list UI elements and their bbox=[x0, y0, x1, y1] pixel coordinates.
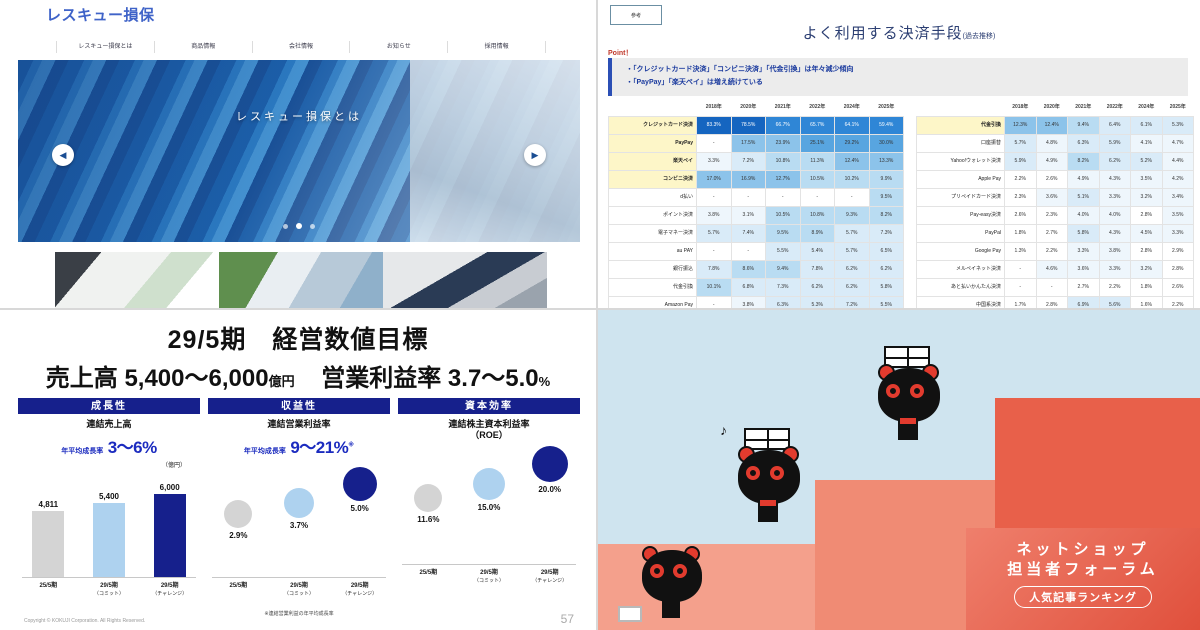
table-cell: 5.8% bbox=[1068, 225, 1100, 243]
chevron-right-icon[interactable]: ▶ bbox=[524, 144, 546, 166]
table-row: 中国系決済1.7%2.8%6.9%5.6%1.6%2.2% bbox=[917, 297, 1194, 311]
table-cell: 2.2% bbox=[1005, 171, 1037, 189]
table-cell: 6.2% bbox=[800, 279, 835, 297]
table-cell: 3.8% bbox=[731, 297, 766, 311]
cagr-value: 3〜6% bbox=[108, 438, 157, 457]
page-number: 57 bbox=[561, 612, 574, 626]
table-cell: 6.9% bbox=[1068, 297, 1100, 311]
bubble bbox=[473, 468, 505, 500]
payment-table-left: 2018年2020年2021年2022年2024年2025年 クレジットカード決… bbox=[608, 99, 904, 310]
hero-caption: レスキュー損保とは bbox=[18, 108, 580, 124]
nav-item-about[interactable]: レスキュー損保とは bbox=[56, 41, 154, 53]
table-cell: 29.2% bbox=[835, 135, 870, 153]
page-subtitle: 売上高 5,400〜6,000億円 営業利益率 3.7〜5.0% bbox=[0, 358, 596, 393]
table-cell: 1.8% bbox=[1005, 225, 1037, 243]
table-cell: 17.0% bbox=[697, 171, 732, 189]
table-cell: 6.5% bbox=[869, 243, 904, 261]
copyright-text: Copyright © KOKUJI Corporation. All Righ… bbox=[24, 618, 145, 624]
hero-carousel: レスキュー損保とは ◀ ▶ bbox=[18, 60, 580, 242]
table-cell: 2.8% bbox=[1131, 243, 1163, 261]
bubble-value-label: 5.0% bbox=[351, 504, 369, 513]
table-cell: 4.6% bbox=[1036, 261, 1068, 279]
year-header: 2025年 bbox=[1162, 99, 1194, 117]
table-cell: 10.2% bbox=[835, 171, 870, 189]
bar-column: 6,000 bbox=[139, 483, 200, 578]
table-cell: 4.3% bbox=[1099, 225, 1131, 243]
table-cell: - bbox=[731, 189, 766, 207]
table-row: Apple Pay2.2%2.6%4.9%4.3%3.5%4.2% bbox=[917, 171, 1194, 189]
table-cell: 3.8% bbox=[1099, 243, 1131, 261]
profitability-x-labels: 25/5期29/5期（コミット）29/5期（チャレンジ） bbox=[208, 582, 390, 598]
row-label: ポイント決済 bbox=[609, 207, 697, 225]
forum-banner[interactable]: ネットショップ 担当者フォーラム 人気記事ランキング bbox=[966, 528, 1200, 630]
table-cell: 10.8% bbox=[800, 207, 835, 225]
bar bbox=[32, 511, 64, 578]
table-cell: 9.9% bbox=[869, 171, 904, 189]
row-label: 代金引換 bbox=[609, 279, 697, 297]
table-row: PayPay-17.5%23.9%25.1%29.2%30.0% bbox=[609, 135, 904, 153]
cagr-label: 年平均成長率 bbox=[61, 448, 103, 455]
panel-capital-metric: 連結株主資本利益率 （ROE） bbox=[398, 419, 580, 441]
table-cell: 6.3% bbox=[1068, 135, 1100, 153]
table-cell: 7.2% bbox=[731, 153, 766, 171]
bubble-value-label: 15.0% bbox=[478, 503, 501, 512]
table-cell: - bbox=[697, 135, 732, 153]
payment-table-left-wrap: 2018年2020年2021年2022年2024年2025年 クレジットカード決… bbox=[608, 99, 904, 310]
bubble-column: 11.6% bbox=[398, 447, 459, 565]
table-cell: 59.4% bbox=[869, 117, 904, 135]
table-row: PayPal1.8%2.7%5.8%4.3%4.5%3.3% bbox=[917, 225, 1194, 243]
table-row: d払い-----9.5% bbox=[609, 189, 904, 207]
bubble-column: 15.0% bbox=[459, 447, 520, 565]
bar bbox=[93, 503, 125, 578]
table-cell: 3.5% bbox=[1131, 171, 1163, 189]
table-row: 口座振替5.7%4.8%6.3%5.9%4.1%4.7% bbox=[917, 135, 1194, 153]
row-label: クレジットカード決済 bbox=[609, 117, 697, 135]
year-header: 2022年 bbox=[800, 99, 835, 117]
cagr-asterisk: ※ bbox=[348, 443, 354, 449]
slide-title-sub: (過去推移) bbox=[963, 33, 996, 40]
table-cell: 83.3% bbox=[697, 117, 732, 135]
table-cell: 4.9% bbox=[1036, 153, 1068, 171]
table-row: 銀行振込7.8%8.6%9.4%7.8%6.2%6.2% bbox=[609, 261, 904, 279]
table-cell: 6.4% bbox=[1099, 117, 1131, 135]
table-cell: 5.7% bbox=[835, 225, 870, 243]
table-row: 楽天ペイ3.3%7.2%10.8%11.3%12.4%13.3% bbox=[609, 153, 904, 171]
table-cell: - bbox=[1036, 279, 1068, 297]
table-cell: - bbox=[766, 189, 801, 207]
table-cell: 4.3% bbox=[1099, 171, 1131, 189]
year-header: 2020年 bbox=[731, 99, 766, 117]
point-label: Point！ bbox=[608, 48, 633, 58]
table-cell: 10.5% bbox=[800, 171, 835, 189]
table-cell: 10.8% bbox=[766, 153, 801, 171]
table-cell: 2.6% bbox=[1162, 279, 1194, 297]
row-label: PayPal bbox=[917, 225, 1005, 243]
nav-item-company[interactable]: 会社情報 bbox=[252, 41, 350, 53]
table-cell: 10.1% bbox=[697, 279, 732, 297]
metric-panels: 成長性 連結売上高 年平均成長率 3〜6% （億円） 4,8115,4006,0… bbox=[18, 398, 580, 603]
table-cell: 2.7% bbox=[1036, 225, 1068, 243]
x-axis-label: 25/5期 bbox=[398, 569, 459, 585]
table-cell: 5.7% bbox=[697, 225, 732, 243]
table-row: メルペイネット決済-4.6%3.6%3.3%3.2%2.8% bbox=[917, 261, 1194, 279]
table-cell: 13.3% bbox=[869, 153, 904, 171]
thumbnail-strip bbox=[55, 252, 547, 308]
table-cell: 6.3% bbox=[766, 297, 801, 311]
footnote: ※連結営業利益の年平均成長率 bbox=[208, 610, 390, 617]
slide-title-main: よく利用する決済手段 bbox=[803, 25, 963, 42]
table-row: ポイント決済3.8%3.1%10.5%10.8%9.3%8.2% bbox=[609, 207, 904, 225]
opmargin-label: 営業利益率 bbox=[321, 365, 441, 392]
table-cell: - bbox=[835, 189, 870, 207]
table-header-row: 2018年2020年2021年2022年2024年2025年 bbox=[609, 99, 904, 117]
table-row: 電子マネー決済5.7%7.4%9.5%8.9%5.7%7.3% bbox=[609, 225, 904, 243]
year-header: 2022年 bbox=[1099, 99, 1131, 117]
opmargin-unit: % bbox=[539, 374, 551, 389]
banner-line-1: ネットショップ bbox=[966, 540, 1200, 560]
table-cell: 65.7% bbox=[800, 117, 835, 135]
axis-line bbox=[22, 577, 196, 578]
row-label: メルペイネット決済 bbox=[917, 261, 1005, 279]
table-cell: 16.9% bbox=[731, 171, 766, 189]
table-cell: 6.2% bbox=[835, 261, 870, 279]
bubble-column: 3.7% bbox=[269, 460, 330, 578]
carousel-dot-active[interactable] bbox=[296, 223, 302, 229]
table-cell: 66.7% bbox=[766, 117, 801, 135]
row-label: プリペイドカード決済 bbox=[917, 189, 1005, 207]
table-cell: 2.6% bbox=[1005, 207, 1037, 225]
panel-profitability-cagr: 年平均成長率 9〜21%※ bbox=[208, 433, 390, 458]
table-cell: 6.1% bbox=[1131, 117, 1163, 135]
bubble-column: 5.0% bbox=[329, 460, 390, 578]
bubble bbox=[284, 488, 314, 518]
year-header: 2018年 bbox=[1005, 99, 1037, 117]
table-cell: 5.3% bbox=[1162, 117, 1194, 135]
table-row: Pay-easy決済2.6%2.3%4.0%4.0%2.8%3.5% bbox=[917, 207, 1194, 225]
bubble bbox=[414, 484, 442, 512]
mascot-eye-left bbox=[650, 564, 664, 578]
table-cell: 2.2% bbox=[1036, 243, 1068, 261]
row-label: 銀行振込 bbox=[609, 261, 697, 279]
point-item: 「クレジットカード決済」「コンビニ決済」「代金引換」は年々減少傾向 bbox=[626, 63, 1188, 76]
table-cell: 3.8% bbox=[697, 207, 732, 225]
table-cell: 9.5% bbox=[766, 225, 801, 243]
table-cell: 7.2% bbox=[835, 297, 870, 311]
table-body-left: クレジットカード決済83.3%78.5%66.7%65.7%64.1%59.4%… bbox=[609, 117, 904, 311]
table-cell: 9.5% bbox=[869, 189, 904, 207]
table-cell: 2.2% bbox=[1162, 297, 1194, 311]
table-cell: 4.9% bbox=[1068, 171, 1100, 189]
bar-value-label: 5,400 bbox=[99, 492, 119, 501]
table-cell: 3.3% bbox=[1099, 261, 1131, 279]
table-cell: - bbox=[800, 189, 835, 207]
table-cell: 2.8% bbox=[1131, 207, 1163, 225]
table-cell: 6.2% bbox=[835, 279, 870, 297]
bar-value-label: 4,811 bbox=[39, 500, 59, 509]
row-label: 代金引換 bbox=[917, 117, 1005, 135]
panel-capital-title: 資本効率 bbox=[398, 398, 580, 414]
year-header: 2024年 bbox=[835, 99, 870, 117]
panel-growth-metric: 連結売上高 bbox=[18, 419, 200, 430]
year-header: 2018年 bbox=[697, 99, 732, 117]
table-row: Yahoo!ウォレット決済5.9%4.9%8.2%6.2%5.2%4.4% bbox=[917, 153, 1194, 171]
x-axis-label: 29/5期（チャレンジ） bbox=[329, 582, 390, 598]
table-cell: 5.6% bbox=[1099, 297, 1131, 311]
table-cell: 1.7% bbox=[1005, 297, 1037, 311]
table-cell: 10.5% bbox=[766, 207, 801, 225]
shopping-basket-icon bbox=[618, 606, 642, 622]
x-axis-label: 29/5期（チャレンジ） bbox=[519, 569, 580, 585]
table-cell: 2.3% bbox=[1005, 189, 1037, 207]
table-cell: 2.8% bbox=[1036, 297, 1068, 311]
table-cell: 3.2% bbox=[1131, 189, 1163, 207]
panel-mascot-banner: ♪ ネットショップ 担当者フォーラム 人気記事ランキング bbox=[598, 310, 1200, 630]
table-cell: 17.5% bbox=[731, 135, 766, 153]
capital-metric-line1: 連結株主資本利益率 bbox=[448, 419, 529, 429]
nav-item-news[interactable]: お知らせ bbox=[349, 41, 447, 53]
table-cell: 1.6% bbox=[1131, 297, 1163, 311]
table-cell: 30.0% bbox=[869, 135, 904, 153]
panel-growth: 成長性 連結売上高 年平均成長率 3〜6% （億円） 4,8115,4006,0… bbox=[18, 398, 200, 603]
row-label: Yahoo!ウォレット決済 bbox=[917, 153, 1005, 171]
mascot-head bbox=[642, 550, 702, 602]
table-cell: 2.3% bbox=[1036, 207, 1068, 225]
bubble-column: 2.9% bbox=[208, 460, 269, 578]
table-cell: 5.7% bbox=[835, 243, 870, 261]
row-label: あと払いかんたん決済 bbox=[917, 279, 1005, 297]
table-cell: 5.2% bbox=[1131, 153, 1163, 171]
row-label: 楽天ペイ bbox=[609, 153, 697, 171]
table-cell: 11.3% bbox=[800, 153, 835, 171]
table-cell: 5.4% bbox=[800, 243, 835, 261]
row-label: PayPay bbox=[609, 135, 697, 153]
chevron-left-icon[interactable]: ◀ bbox=[52, 144, 74, 166]
panel-insurance-website: レスキュー損保 レスキュー損保とは 商品情報 会社情報 お知らせ 採用情報 レス… bbox=[0, 0, 598, 310]
table-cell: 2.8% bbox=[1162, 261, 1194, 279]
table-cell: 3.3% bbox=[1068, 243, 1100, 261]
mascot-eye-left bbox=[886, 384, 900, 398]
table-cell: 4.2% bbox=[1162, 171, 1194, 189]
table-cell: 7.8% bbox=[697, 261, 732, 279]
row-label: au PAY bbox=[609, 243, 697, 261]
capital-bubble-chart: 11.6%15.0%20.0% bbox=[398, 447, 580, 565]
thumbnail-image[interactable] bbox=[55, 252, 219, 308]
table-cell: 3.5% bbox=[1162, 207, 1194, 225]
screenshot-root: レスキュー損保 レスキュー損保とは 商品情報 会社情報 お知らせ 採用情報 レス… bbox=[0, 0, 1200, 630]
bar-column: 5,400 bbox=[79, 492, 140, 578]
panel-management-targets: 29/5期 経営数値目標 売上高 5,400〜6,000億円 営業利益率 3.7… bbox=[0, 310, 598, 630]
panel-payment-methods-slide: 参考 よく利用する決済手段(過去推移) Point！ 「クレジットカード決済」「… bbox=[598, 0, 1200, 310]
table-cell: 9.3% bbox=[835, 207, 870, 225]
table-cell: 7.3% bbox=[869, 225, 904, 243]
table-row: Google Pay1.3%2.2%3.3%3.8%2.8%2.9% bbox=[917, 243, 1194, 261]
table-cell: 4.5% bbox=[1131, 225, 1163, 243]
cagr-value: 9〜21% bbox=[290, 438, 348, 457]
mascot-eye-right bbox=[910, 384, 924, 398]
table-row: プリペイドカード決済2.3%3.6%5.1%3.3%3.2%3.4% bbox=[917, 189, 1194, 207]
row-label: コンビニ決済 bbox=[609, 171, 697, 189]
capital-x-labels: 25/5期29/5期（コミット）29/5期（チャレンジ） bbox=[398, 569, 580, 585]
table-row: Amazon Pay-3.8%6.3%5.3%7.2%5.5% bbox=[609, 297, 904, 311]
table-cell: 4.0% bbox=[1099, 207, 1131, 225]
panel-growth-cagr: 年平均成長率 3〜6% bbox=[18, 433, 200, 458]
mascot-eye-right bbox=[770, 466, 784, 480]
table-cell: 5.9% bbox=[1005, 153, 1037, 171]
table-cell: 9.4% bbox=[1068, 117, 1100, 135]
bar-column: 4,811 bbox=[18, 500, 79, 578]
table-row: 代金引換12.3%12.4%9.4%6.4%6.1%5.3% bbox=[917, 117, 1194, 135]
table-cell: 6.8% bbox=[731, 279, 766, 297]
year-header: 2025年 bbox=[869, 99, 904, 117]
mascot-bowtie bbox=[760, 500, 776, 506]
table-cell: 8.9% bbox=[800, 225, 835, 243]
axis-line bbox=[212, 577, 386, 578]
table-cell: 5.1% bbox=[1068, 189, 1100, 207]
row-label: Google Pay bbox=[917, 243, 1005, 261]
bubble-column: 20.0% bbox=[519, 447, 580, 565]
bubble-value-label: 11.6% bbox=[417, 515, 439, 524]
year-header: 2024年 bbox=[1131, 99, 1163, 117]
bar bbox=[154, 494, 186, 578]
carousel-dot[interactable] bbox=[283, 224, 288, 229]
table-cell: 5.5% bbox=[766, 243, 801, 261]
mascot-eye-right bbox=[673, 564, 687, 578]
site-navigation: レスキュー損保とは 商品情報 会社情報 お知らせ 採用情報 bbox=[56, 36, 546, 58]
growth-x-labels: 25/5期29/5期（コミット）29/5期（チャレンジ） bbox=[18, 582, 200, 598]
nav-item-products[interactable]: 商品情報 bbox=[154, 41, 252, 53]
bubble bbox=[343, 467, 377, 501]
point-box: 「クレジットカード決済」「コンビニ決済」「代金引換」は年々減少傾向 「PayPa… bbox=[608, 58, 1188, 96]
opmargin-value: 3.7〜5.0 bbox=[448, 365, 539, 392]
bubble bbox=[224, 500, 252, 528]
row-label: Apple Pay bbox=[917, 171, 1005, 189]
table-cell: 1.8% bbox=[1131, 279, 1163, 297]
x-axis-label: 25/5期 bbox=[18, 582, 79, 598]
table-cell: 8.2% bbox=[1068, 153, 1100, 171]
table-cell: 8.2% bbox=[869, 207, 904, 225]
bubble-value-label: 2.9% bbox=[229, 531, 247, 540]
year-header: 2021年 bbox=[766, 99, 801, 117]
table-cell: 7.8% bbox=[800, 261, 835, 279]
mascot-eye-left bbox=[746, 466, 760, 480]
table-cell: 8.6% bbox=[731, 261, 766, 279]
growth-bars: 4,8115,4006,000 bbox=[18, 466, 200, 578]
table-cell: - bbox=[731, 243, 766, 261]
table-cell: 4.7% bbox=[1162, 135, 1194, 153]
table-cell: 4.4% bbox=[1162, 153, 1194, 171]
table-cell: 3.3% bbox=[1099, 189, 1131, 207]
table-cell: 6.2% bbox=[1099, 153, 1131, 171]
revenue-label: 売上高 bbox=[46, 365, 118, 392]
panel-profitability: 収益性 連結営業利益率 年平均成長率 9〜21%※ 2.9%3.7%5.0% 2… bbox=[208, 398, 390, 603]
panel-growth-title: 成長性 bbox=[18, 398, 200, 414]
panel-capital-efficiency: 資本効率 連結株主資本利益率 （ROE） 11.6%15.0%20.0% 25/… bbox=[398, 398, 580, 603]
table-cell: 12.3% bbox=[1005, 117, 1037, 135]
table-row: コンビニ決済17.0%16.9%12.7%10.5%10.2%9.9% bbox=[609, 171, 904, 189]
table-cell: 5.7% bbox=[1005, 135, 1037, 153]
table-cell: 7.3% bbox=[766, 279, 801, 297]
slide-title: よく利用する決済手段(過去推移) bbox=[598, 22, 1200, 43]
table-cell: 3.2% bbox=[1131, 261, 1163, 279]
thumbnail-image[interactable] bbox=[383, 252, 547, 308]
table-cell: 5.5% bbox=[869, 297, 904, 311]
payment-table-right-wrap: 2018年2020年2021年2022年2024年2025年 代金引換12.3%… bbox=[916, 99, 1194, 310]
bar-value-label: 6,000 bbox=[160, 483, 180, 492]
table-cell: 3.3% bbox=[697, 153, 732, 171]
nav-item-careers[interactable]: 採用情報 bbox=[447, 41, 546, 53]
year-header: 2021年 bbox=[1068, 99, 1100, 117]
profitability-bubble-chart: 2.9%3.7%5.0% bbox=[208, 460, 390, 578]
row-label: 中国系決済 bbox=[917, 297, 1005, 311]
mascot-bowtie bbox=[900, 418, 916, 424]
table-cell: 64.1% bbox=[835, 117, 870, 135]
table-cell: 3.6% bbox=[1036, 189, 1068, 207]
bubble-value-label: 3.7% bbox=[290, 521, 308, 530]
bubble bbox=[532, 446, 568, 482]
table-cell: 23.9% bbox=[766, 135, 801, 153]
table-cell: 12.4% bbox=[1036, 117, 1068, 135]
table-cell: 2.7% bbox=[1068, 279, 1100, 297]
carousel-dot[interactable] bbox=[310, 224, 315, 229]
table-cell: 78.5% bbox=[731, 117, 766, 135]
table-cell: 4.0% bbox=[1068, 207, 1100, 225]
x-axis-label: 29/5期（コミット） bbox=[269, 582, 330, 598]
revenue-value: 5,400〜6,000 bbox=[124, 365, 268, 392]
revenue-unit: 億円 bbox=[269, 374, 295, 389]
table-cell: - bbox=[1005, 261, 1037, 279]
panel-profitability-metric: 連結営業利益率 bbox=[208, 419, 390, 430]
thumbnail-image[interactable] bbox=[219, 252, 383, 308]
site-logo[interactable]: レスキュー損保 bbox=[46, 4, 155, 25]
cart-mascot-middle: ♪ bbox=[728, 428, 812, 524]
row-label: 電子マネー決済 bbox=[609, 225, 697, 243]
table-header-row: 2018年2020年2021年2022年2024年2025年 bbox=[917, 99, 1194, 117]
cagr-label: 年平均成長率 bbox=[244, 448, 286, 455]
payment-table-right: 2018年2020年2021年2022年2024年2025年 代金引換12.3%… bbox=[916, 99, 1194, 310]
x-axis-label: 25/5期 bbox=[208, 582, 269, 598]
table-row: クレジットカード決済83.3%78.5%66.7%65.7%64.1%59.4% bbox=[609, 117, 904, 135]
table-cell: 25.1% bbox=[800, 135, 835, 153]
table-cell: 7.4% bbox=[731, 225, 766, 243]
table-cell: 12.7% bbox=[766, 171, 801, 189]
table-cell: 5.8% bbox=[869, 279, 904, 297]
x-axis-label: 29/5期（チャレンジ） bbox=[139, 582, 200, 598]
growth-bar-chart: （億円） 4,8115,4006,000 bbox=[18, 460, 200, 578]
bubble-value-label: 20.0% bbox=[538, 485, 561, 494]
table-cell: 3.4% bbox=[1162, 189, 1194, 207]
table-cell: - bbox=[697, 243, 732, 261]
row-label: d払い bbox=[609, 189, 697, 207]
panel-profitability-title: 収益性 bbox=[208, 398, 390, 414]
table-cell: 3.3% bbox=[1162, 225, 1194, 243]
table-cell: - bbox=[697, 189, 732, 207]
table-cell: 1.3% bbox=[1005, 243, 1037, 261]
x-axis-label: 29/5期（コミット） bbox=[459, 569, 520, 585]
table-cell: 12.4% bbox=[835, 153, 870, 171]
table-cell: 3.1% bbox=[731, 207, 766, 225]
music-note-icon: ♪ bbox=[720, 422, 727, 438]
table-row: au PAY--5.5%5.4%5.7%6.5% bbox=[609, 243, 904, 261]
table-cell: 9.4% bbox=[766, 261, 801, 279]
table-row: 代金引換10.1%6.8%7.3%6.2%6.2%5.8% bbox=[609, 279, 904, 297]
row-label: 口座振替 bbox=[917, 135, 1005, 153]
row-label: Pay-easy決済 bbox=[917, 207, 1005, 225]
carousel-dots[interactable] bbox=[18, 216, 580, 234]
table-cell: - bbox=[1005, 279, 1037, 297]
capital-bubbles: 11.6%15.0%20.0% bbox=[398, 447, 580, 565]
page-title: 29/5期 経営数値目標 bbox=[0, 320, 596, 356]
